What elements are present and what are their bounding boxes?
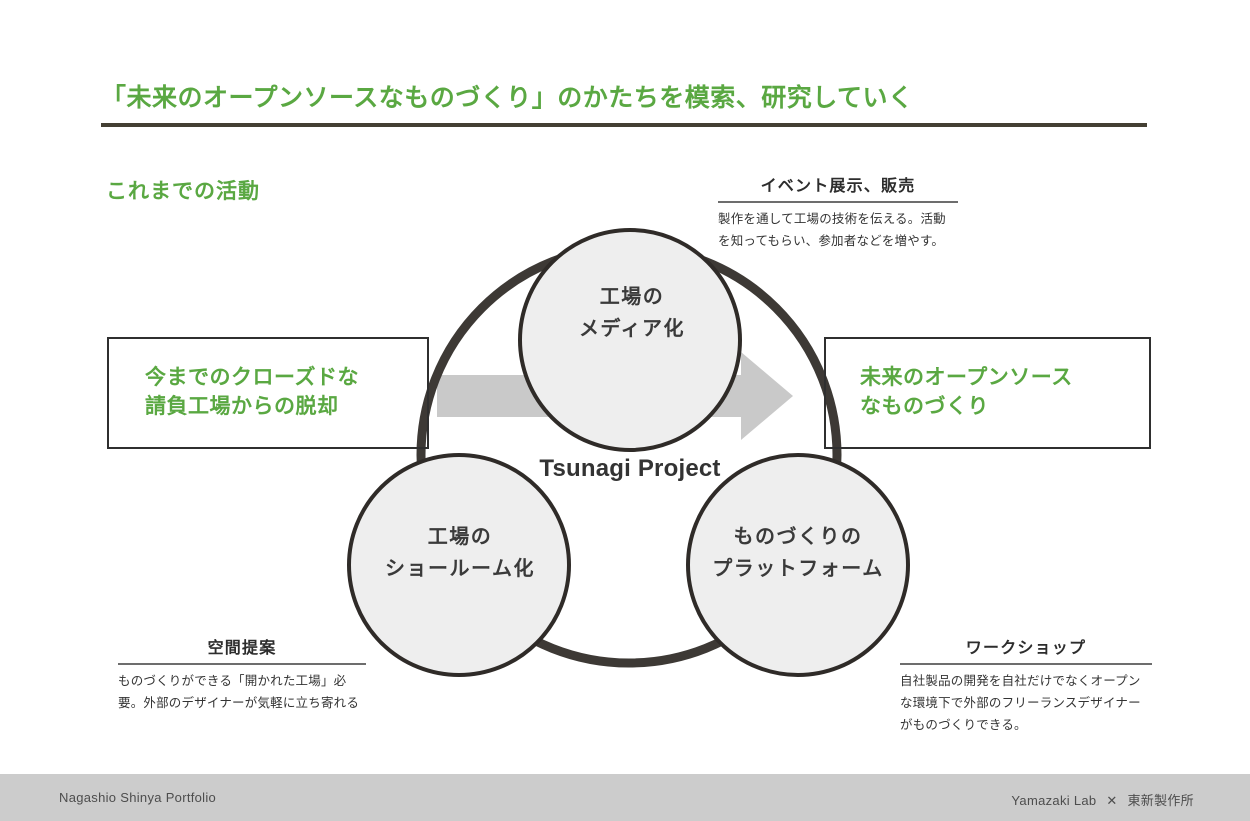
annotation-event-heading: イベント展示、販売 xyxy=(718,172,958,201)
footer-company-name: 東新製作所 xyxy=(1127,793,1194,808)
before-state-line2: 請負工場からの脱却 xyxy=(145,393,427,422)
annotation-space-body: ものづくりができる「開かれた工場」必要。外部のデザイナーが気軽に立ち寄れる xyxy=(118,665,366,715)
annotation-space-heading: 空間提案 xyxy=(118,634,366,663)
after-state-line2: なものづくり xyxy=(860,393,1149,422)
footer-portfolio-name: Nagashio Shinya Portfolio xyxy=(59,790,216,805)
cross-icon: ✕ xyxy=(1100,793,1123,809)
diagram-center-label: Tsunagi Project xyxy=(480,455,780,483)
annotation-space: 空間提案 ものづくりができる「開かれた工場」必要。外部のデザイナーが気軽に立ち寄… xyxy=(118,634,366,715)
slide-canvas: 「未来のオープンソースなものづくり」のかたちを模索、研究していく これまでの活動… xyxy=(0,0,1250,821)
before-state-box: 今までのクローズドな 請負工場からの脱却 xyxy=(107,337,429,449)
circle-node-bottom-right xyxy=(688,455,908,675)
after-state-box: 未来のオープンソース なものづくり xyxy=(824,337,1151,449)
circle-node-bottom-left xyxy=(349,455,569,675)
before-state-line1: 今までのクローズドな xyxy=(145,364,427,393)
annotation-event-body: 製作を通して工場の技術を伝える。活動を知ってもらい、参加者などを増やす。 xyxy=(718,203,958,253)
slide-footer: Nagashio Shinya Portfolio Yamazaki Lab ✕… xyxy=(0,774,1250,821)
footer-credits: Yamazaki Lab ✕ 東新製作所 xyxy=(1011,790,1194,809)
footer-lab-name: Yamazaki Lab xyxy=(1011,793,1096,808)
annotation-workshop: ワークショップ 自社製品の開発を自社だけでなくオープンな環境下で外部のフリーラン… xyxy=(900,634,1152,737)
after-state-line1: 未来のオープンソース xyxy=(860,364,1149,393)
annotation-workshop-heading: ワークショップ xyxy=(900,634,1152,663)
circle-node-top xyxy=(520,230,740,450)
annotation-event: イベント展示、販売 製作を通して工場の技術を伝える。活動を知ってもらい、参加者な… xyxy=(718,172,958,253)
annotation-workshop-body: 自社製品の開発を自社だけでなくオープンな環境下で外部のフリーランスデザイナーがも… xyxy=(900,665,1152,737)
